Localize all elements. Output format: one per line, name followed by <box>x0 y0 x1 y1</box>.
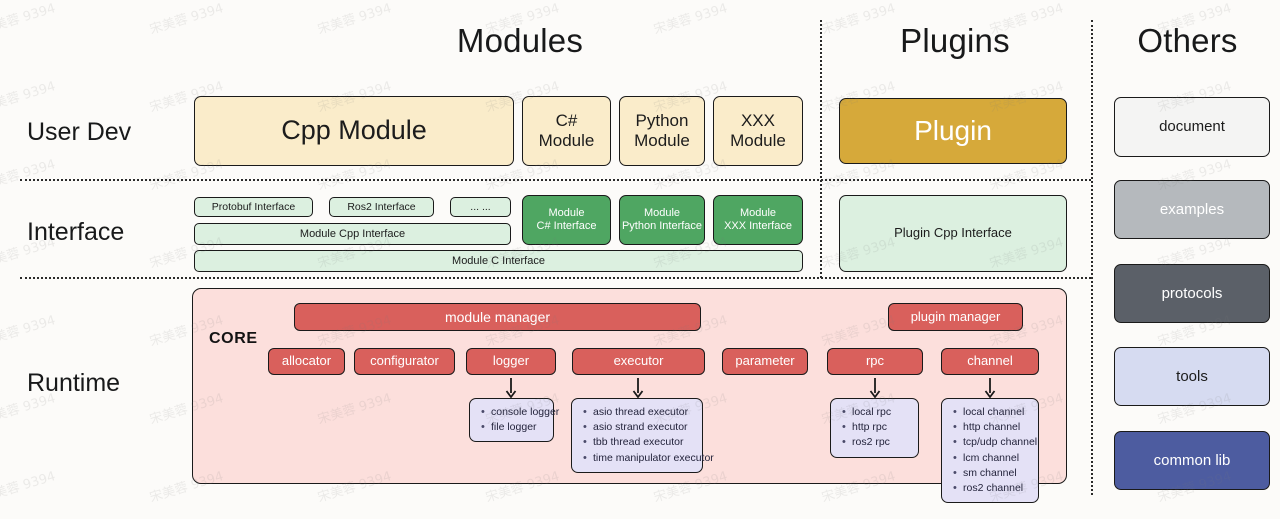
detail-item: sm channel <box>963 466 1031 481</box>
core-component-rpc[interactable]: rpc <box>827 348 923 375</box>
interface-box-module-c[interactable]: Module C Interface <box>194 250 803 272</box>
module-box-python[interactable]: Python Module <box>619 96 705 166</box>
interface-box-ros2[interactable]: Ros2 Interface <box>329 197 434 217</box>
others-box-examples[interactable]: examples <box>1114 180 1270 239</box>
interface-box-module-csharp[interactable]: Module C# Interface <box>522 195 611 245</box>
interface-box-plugin-cpp[interactable]: Plugin Cpp Interface <box>839 195 1067 272</box>
interface-box-module-cpp[interactable]: Module Cpp Interface <box>194 223 511 245</box>
detail-item: file logger <box>491 420 546 435</box>
divider-modules-plugins <box>820 20 822 278</box>
module-box-xxx[interactable]: XXX Module <box>713 96 803 166</box>
detail-item: asio thread executor <box>593 405 695 420</box>
arrow-executor <box>631 377 645 399</box>
detail-item: http rpc <box>852 420 911 435</box>
others-box-common-lib[interactable]: common lib <box>1114 431 1270 490</box>
detail-list-channel: local channelhttp channeltcp/udp channel… <box>941 398 1039 503</box>
detail-list-executor: asio thread executorasio strand executor… <box>571 398 703 473</box>
others-box-document[interactable]: document <box>1114 97 1270 157</box>
divider-user-dev-interface <box>20 179 1091 181</box>
arrow-rpc <box>868 377 882 399</box>
core-label: CORE <box>209 330 258 348</box>
row-label-interface: Interface <box>27 218 124 247</box>
interface-box-module-xxx[interactable]: Module XXX Interface <box>713 195 803 245</box>
core-plugin-manager[interactable]: plugin manager <box>888 303 1023 331</box>
detail-items-logger: console loggerfile logger <box>477 405 546 435</box>
detail-item: console logger <box>491 405 546 420</box>
detail-item: ros2 channel <box>963 481 1031 496</box>
core-component-logger[interactable]: logger <box>466 348 556 375</box>
arrow-logger <box>504 377 518 399</box>
column-header-plugins: Plugins <box>840 22 1070 60</box>
plugin-box[interactable]: Plugin <box>839 98 1067 164</box>
interface-box-module-python[interactable]: Module Python Interface <box>619 195 705 245</box>
watermark-text: 宋美蓉 9394 <box>147 0 225 38</box>
detail-item: time manipulator executor <box>593 451 695 466</box>
interface-box-ellipsis[interactable]: ... ... <box>450 197 511 217</box>
row-label-runtime: Runtime <box>27 369 120 398</box>
core-module-manager[interactable]: module manager <box>294 303 701 331</box>
others-box-tools[interactable]: tools <box>1114 347 1270 406</box>
detail-items-rpc: local rpchttp rpcros2 rpc <box>838 405 911 451</box>
module-box-csharp[interactable]: C# Module <box>522 96 611 166</box>
interface-box-protobuf[interactable]: Protobuf Interface <box>194 197 313 217</box>
core-component-executor[interactable]: executor <box>572 348 705 375</box>
detail-item: tbb thread executor <box>593 435 695 450</box>
module-box-cpp[interactable]: Cpp Module <box>194 96 514 166</box>
column-header-modules: Modules <box>320 22 720 60</box>
detail-item: http channel <box>963 420 1031 435</box>
watermark-text: 宋美蓉 9394 <box>0 0 57 38</box>
detail-item: ros2 rpc <box>852 435 911 450</box>
divider-interface-runtime <box>20 277 1091 279</box>
watermark-text: 宋美蓉 9394 <box>0 309 57 349</box>
watermark-text: 宋美蓉 9394 <box>0 153 57 193</box>
column-header-others: Others <box>1100 22 1275 60</box>
watermark-text: 宋美蓉 9394 <box>0 465 57 505</box>
watermark-text: 宋美蓉 9394 <box>0 75 57 115</box>
architecture-diagram: Modules Plugins Others User Dev Interfac… <box>0 0 1280 519</box>
detail-list-rpc: local rpchttp rpcros2 rpc <box>830 398 919 458</box>
detail-items-channel: local channelhttp channeltcp/udp channel… <box>949 405 1031 496</box>
arrow-channel <box>983 377 997 399</box>
divider-plugins-others <box>1091 20 1093 495</box>
detail-item: tcp/udp channel <box>963 435 1031 450</box>
core-component-configurator[interactable]: configurator <box>354 348 455 375</box>
detail-item: lcm channel <box>963 451 1031 466</box>
detail-item: local channel <box>963 405 1031 420</box>
row-label-user-dev: User Dev <box>27 118 131 147</box>
core-component-allocator[interactable]: allocator <box>268 348 345 375</box>
core-component-channel[interactable]: channel <box>941 348 1039 375</box>
detail-items-executor: asio thread executorasio strand executor… <box>579 405 695 466</box>
detail-item: asio strand executor <box>593 420 695 435</box>
detail-item: local rpc <box>852 405 911 420</box>
core-component-parameter[interactable]: parameter <box>722 348 808 375</box>
others-box-protocols[interactable]: protocols <box>1114 264 1270 323</box>
detail-list-logger: console loggerfile logger <box>469 398 554 442</box>
